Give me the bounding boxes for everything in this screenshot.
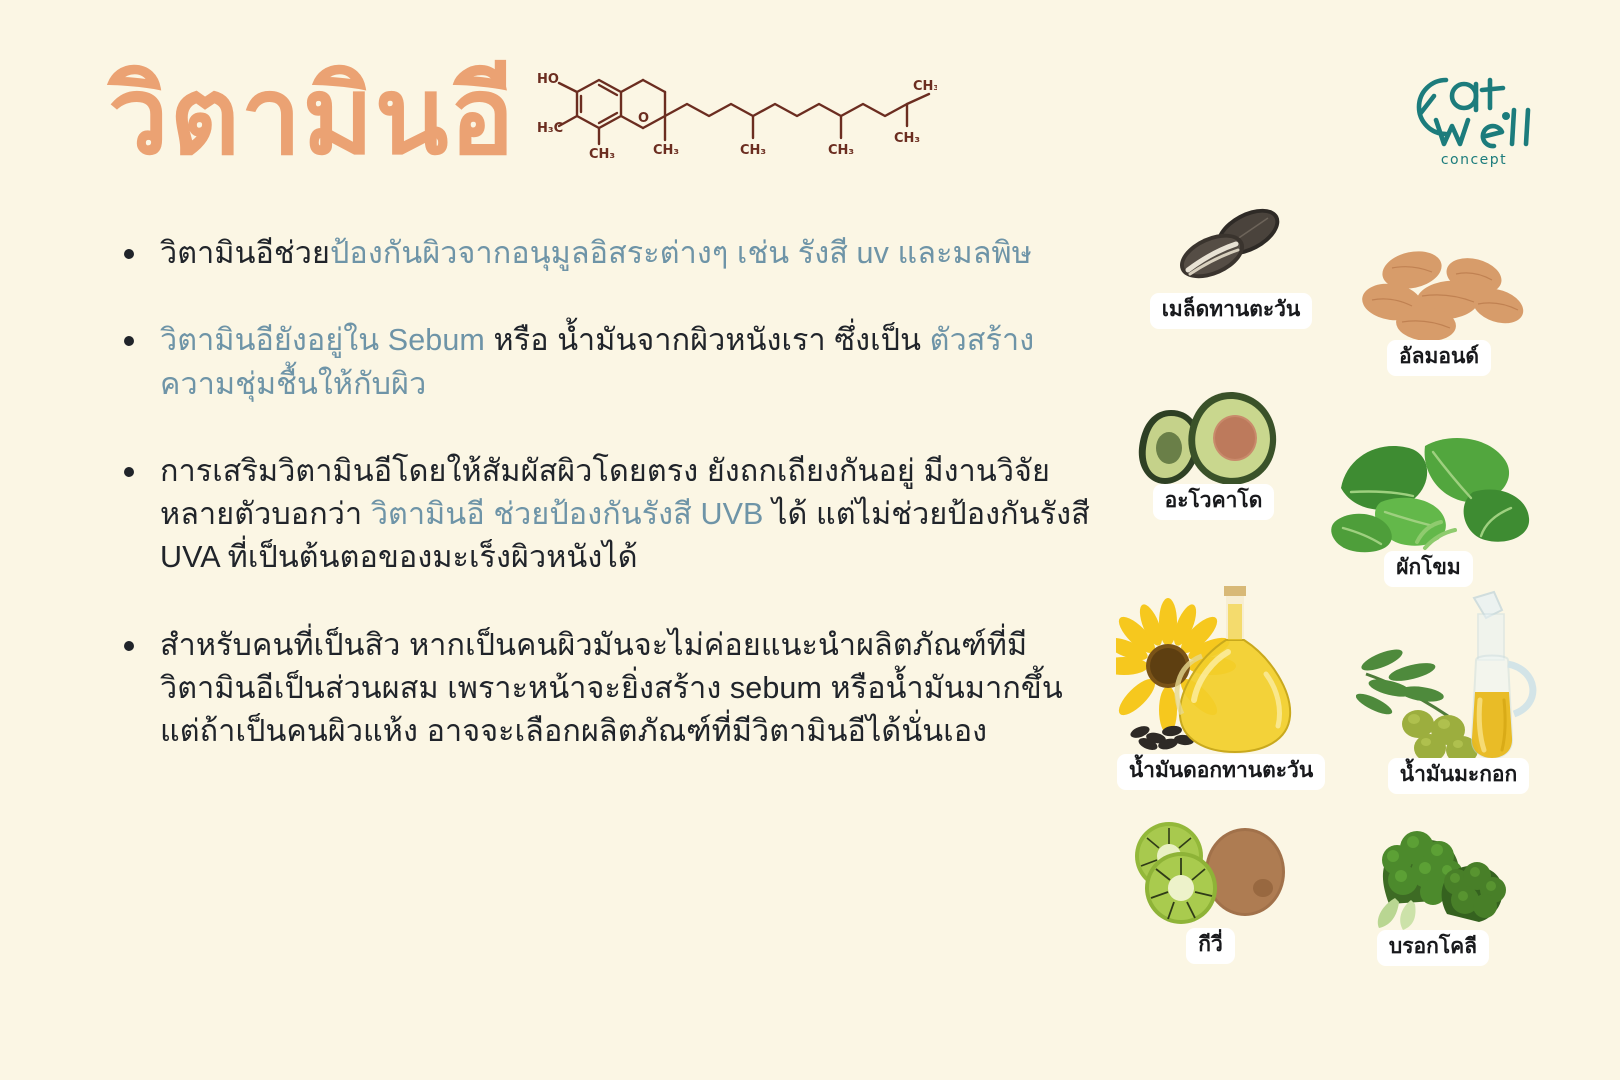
bullet-1-seg-1: วิตามินอีช่วย [160, 236, 330, 270]
food-item-kiwi: กีวี่ [1108, 814, 1313, 964]
bullet-dot-icon [124, 249, 134, 259]
bullet-item-2: วิตามินอียังอยู่ใน Sebum หรือ น้ำมันจากผ… [118, 319, 1098, 406]
svg-text:CH₃: CH₃ [828, 143, 854, 158]
food-label-sunflower-seeds: เมล็ดทานตะวัน [1150, 293, 1313, 329]
olive-oil-image [1336, 588, 1581, 768]
brand-logo: concept [1390, 58, 1558, 170]
svg-text:CH₃: CH₃ [589, 147, 615, 162]
food-item-spinach: ผักโขม [1296, 426, 1561, 587]
page-title: วิตามินอี [108, 62, 515, 170]
bullet-item-4: สำหรับคนที่เป็นสิว หากเป็นคนผิวมันจะไม่ค… [118, 624, 1098, 754]
kiwi-image [1108, 814, 1313, 934]
bullet-dot-icon [124, 467, 134, 477]
food-item-olive-oil: น้ำมันมะกอก [1336, 588, 1581, 794]
bullet-4-seg-1: สำหรับคนที่เป็นสิว หากเป็นคนผิวมันจะไม่ค… [160, 628, 1063, 749]
sunflower-oil-image [1091, 574, 1351, 764]
svg-text:CH₃: CH₃ [653, 143, 679, 158]
food-item-avocado: อะโวคาโด [1106, 384, 1321, 520]
infographic-poster: วิตามินอี [0, 0, 1620, 1080]
broccoli-image [1318, 808, 1548, 938]
spinach-image [1296, 426, 1561, 561]
bullet-item-1: วิตามินอีช่วยป้องกันผิวจากอนุมูลอิสระต่า… [118, 232, 1098, 275]
food-source-grid: เมล็ดทานตะวัน [1086, 188, 1586, 1008]
header: วิตามินอี [108, 62, 937, 170]
svg-text:HO: HO [537, 72, 559, 87]
food-label-spinach: ผักโขม [1384, 551, 1473, 587]
food-label-broccoli: บรอกโคลี [1377, 930, 1489, 966]
food-item-sunflower-seeds: เมล็ดทานตะวัน [1126, 188, 1336, 329]
svg-text:CH₃: CH₃ [740, 143, 766, 158]
food-item-sunflower-oil: น้ำมันดอกทานตะวัน [1091, 574, 1351, 790]
food-label-avocado: อะโวคาโด [1153, 484, 1275, 520]
bullet-dot-icon [124, 641, 134, 651]
alpha-tocopherol-structure-icon: HO H₃C O CH₃ CH₃ CH₃ CH₃ CH₃ CH₃ [537, 70, 937, 162]
avocado-image [1106, 384, 1321, 494]
food-label-sunflower-oil: น้ำมันดอกทานตะวัน [1117, 754, 1325, 790]
bullet-dot-icon [124, 336, 134, 346]
svg-text:O: O [638, 111, 649, 126]
svg-text:H₃C: H₃C [537, 121, 563, 136]
food-item-broccoli: บรอกโคลี [1318, 808, 1548, 966]
bullet-3-seg-2: วิตามินอี ช่วยป้องกันรังสี UVB [371, 497, 772, 531]
bullet-1-seg-2: ป้องกันผิวจากอนุมูลอิสระต่างๆ เช่น รังสี… [330, 236, 1032, 270]
logo-tagline: concept [1441, 152, 1507, 168]
bullet-item-3: การเสริมวิตามินอีโดยให้สัมผัสผิวโดยตรง ย… [118, 450, 1098, 580]
bullet-2-seg-2: หรือ น้ำมันจากผิวหนังเรา ซึ่งเป็น [494, 323, 930, 357]
food-label-kiwi: กีวี่ [1186, 928, 1235, 964]
svg-text:CH₃: CH₃ [913, 79, 937, 94]
food-item-almond: อัลมอนด์ [1324, 240, 1554, 376]
almond-image [1324, 240, 1554, 350]
food-label-almond: อัลมอนด์ [1387, 340, 1491, 376]
bullet-list: วิตามินอีช่วยป้องกันผิวจากอนุมูลอิสระต่า… [118, 232, 1098, 754]
svg-text:CH₃: CH₃ [894, 131, 920, 146]
food-label-olive-oil: น้ำมันมะกอก [1388, 758, 1530, 794]
bullet-2-seg-1: วิตามินอียังอยู่ใน Sebum [160, 323, 494, 357]
sunflower-seeds-image [1126, 188, 1336, 303]
